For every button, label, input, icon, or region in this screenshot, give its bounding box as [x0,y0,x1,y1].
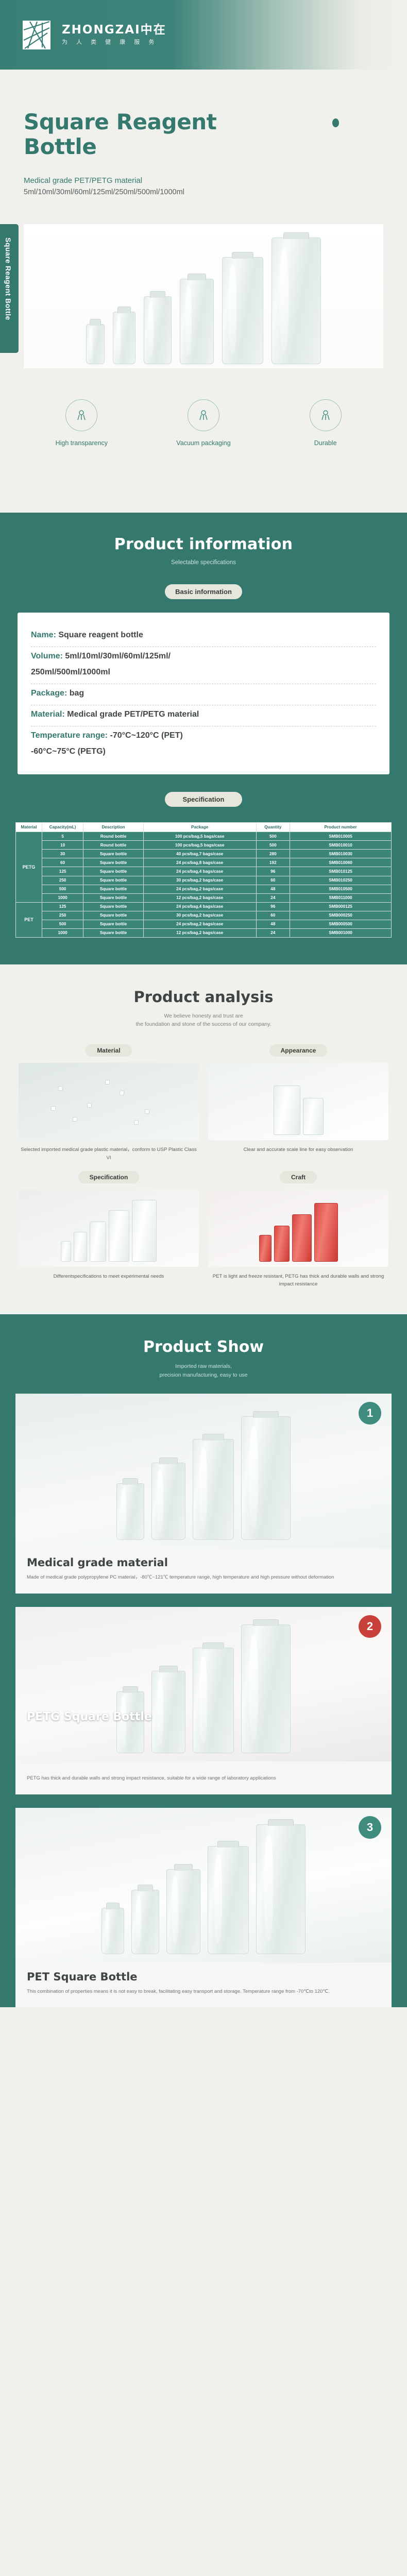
bottle-125ml [180,279,214,364]
cell-package: 40 pcs/bag,7 bags/case [143,850,256,858]
cell-capacity: 250 [42,911,83,920]
table-header-row: Material Capacity(mL) Description Packag… [16,823,392,832]
analysis-card-craft: Craft PET is light and freeze resistant,… [208,1171,388,1289]
feature-vacuum-packaging: Vacuum packaging [165,399,242,448]
table-row: 10Round bottle100 pcs/bag,5 bags/case500… [16,841,392,850]
product-detail-page: ZHONGZAI中在 为 人 类 健 康 服 务 Square Reagent … [0,0,407,2007]
cell-product-number: SMB000250 [290,911,392,920]
table-row: 1000Square bottle12 pcs/bag,2 bags/case2… [16,928,392,937]
cell-package: 12 pcs/bag,2 bags/case [143,928,256,937]
table-row: 500Square bottle24 pcs/bag,2 bags/case48… [16,920,392,928]
cell-quantity: 280 [256,850,290,858]
section-title: Product information [0,535,407,553]
cell-capacity: 30 [42,850,83,858]
specification-table: Material Capacity(mL) Description Packag… [15,822,392,938]
bottle-30ml [144,296,172,364]
product-show-section: Product Show Imported raw materials, pre… [0,1314,407,2008]
info-row-name: Name: Square reagent bottle [31,626,376,647]
cell-package: 24 pcs/bag,2 bags/case [143,920,256,928]
cell-product-number: SMB000125 [290,902,392,911]
cell-package: 100 pcs/bag,5 bags/case [143,841,256,850]
cell-quantity: 48 [256,885,290,893]
analysis-caption: Differentspecifications to meet experime… [19,1273,199,1280]
cell-capacity: 5 [42,832,83,841]
show-heading: PET Square Bottle [27,1971,380,1983]
info-row-package: Package: bag [31,684,376,705]
cell-product-number: SMB011000 [290,893,392,902]
table-row: 60Square bottle24 pcs/bag,8 bags/case192… [16,858,392,867]
cell-description: Square bottle [83,850,144,858]
cell-quantity: 48 [256,920,290,928]
hero-subtitle: Medical grade PET/PETG material 5ml/10ml… [0,159,407,198]
cell-capacity: 125 [42,867,83,876]
cell-product-number: SMB010060 [290,858,392,867]
table-row: 1000Square bottle12 pcs/bag,2 bags/case2… [16,893,392,902]
zhongzai-logo-mark-icon [22,20,52,50]
show-item-1: 1 Medical grade material Made of medical… [15,1394,392,1594]
th-description: Description [83,823,144,832]
specification-table-body: PETG5Round bottle100 pcs/bag,5 bags/case… [16,832,392,937]
cell-quantity: 500 [256,832,290,841]
cell-package: 30 pcs/bag,2 bags/case [143,911,256,920]
analysis-image-appearance [208,1063,388,1140]
analysis-card-specification: Specification Differentspecifications to… [19,1171,199,1289]
vacuum-icon [188,399,219,431]
cell-capacity: 500 [42,920,83,928]
cell-product-number: SMB010010 [290,841,392,850]
decorative-dot [332,118,339,127]
hero-material-text: Medical grade PET/PETG material [24,175,407,187]
info-row-temperature: Temperature range: -70°C~120°C (PET) [31,726,376,747]
bottle-5ml [86,324,105,364]
cell-capacity: 1000 [42,893,83,902]
analysis-image-material [19,1063,199,1140]
info-row-volume: Volume: 5ml/10ml/30ml/60ml/125ml/ [31,647,376,668]
durable-icon [310,399,342,431]
show-image-2: 2 PETG Square Bottle [15,1607,392,1761]
show-image-1: 1 [15,1394,392,1548]
info-row-material: Material: Medical grade PET/PETG materia… [31,705,376,726]
analysis-title: Product analysis [0,988,407,1006]
table-row: 250Square bottle30 pcs/bag,2 bags/case60… [16,876,392,885]
table-row: PETG5Round bottle100 pcs/bag,5 bags/case… [16,832,392,841]
analysis-tag: Material [86,1044,131,1057]
analysis-card-appearance: Appearance Clear and accurate scale line… [208,1044,388,1162]
analysis-tag: Appearance [269,1044,328,1057]
show-title: Product Show [0,1338,407,1356]
analysis-subtitle: We believe honesty and trust are the fou… [0,1012,407,1029]
specification-table-wrapper: Material Capacity(mL) Description Packag… [15,822,392,938]
info-row-volume-cont: 250ml/500ml/1000ml [31,668,376,684]
hero-section: Square Reagent Bottle Medical grade PET/… [0,70,407,513]
cell-package: 24 pcs/bag,4 bags/case [143,867,256,876]
page-title: Square Reagent Bottle [0,110,247,159]
cell-material: PETG [16,832,42,902]
cell-description: Square bottle [83,911,144,920]
analysis-image-craft [208,1190,388,1267]
show-caption-1: Medical grade material Made of medical g… [15,1548,392,1594]
hero-title-line-1: Square Reagent [24,110,247,134]
cell-capacity: 60 [42,858,83,867]
feature-high-transparency: High transparency [43,399,120,448]
cell-package: 24 pcs/bag,4 bags/case [143,902,256,911]
transparency-icon [65,399,97,431]
cell-quantity: 60 [256,876,290,885]
show-heading: Medical grade material [27,1556,380,1569]
cell-package: 30 pcs/bag,2 bags/case [143,876,256,885]
show-number-badge: 2 [359,1615,381,1638]
table-row: 30Square bottle40 pcs/bag,7 bags/case280… [16,850,392,858]
th-material: Material [16,823,42,832]
hero-title-line-2: Bottle [24,134,247,159]
analysis-caption: PET is light and freeze resistant, PETG … [208,1273,388,1289]
analysis-card-material: Material Selected imported medical grade… [19,1044,199,1162]
cell-quantity: 24 [256,928,290,937]
cell-product-number: SMB010005 [290,832,392,841]
show-caption-2: PETG has thick and durable walls and str… [15,1761,392,1794]
th-quantity: Quantity [256,823,290,832]
info-row-temperature-cont: -60°C~75°C (PETG) [31,747,376,763]
cell-package: 24 pcs/bag,2 bags/case [143,885,256,893]
cell-description: Square bottle [83,893,144,902]
cell-quantity: 60 [256,911,290,920]
cell-description: Round bottle [83,841,144,850]
show-number-badge: 3 [359,1816,381,1839]
th-package: Package [143,823,256,832]
cell-description: Square bottle [83,920,144,928]
product-analysis-section: Product analysis We believe honesty and … [0,964,407,1314]
bottle-10ml [113,312,135,364]
analysis-image-specification [19,1190,199,1267]
analysis-caption: Selected imported medical grade plastic … [19,1146,199,1162]
hero-feature-list: High transparency Vacuum packaging Durab… [0,399,407,448]
cell-description: Square bottle [83,867,144,876]
cell-capacity: 1000 [42,928,83,937]
th-capacity: Capacity(mL) [42,823,83,832]
hero-volumes-text: 5ml/10ml/30ml/60ml/125ml/250ml/500ml/100… [24,187,407,198]
site-header: ZHONGZAI中在 为 人 类 健 康 服 务 [0,0,407,70]
cell-quantity: 24 [256,893,290,902]
show-number-badge: 1 [359,1402,381,1425]
cell-description: Square bottle [83,902,144,911]
analysis-tag: Specification [78,1171,140,1183]
bottle-500ml [222,257,263,364]
analysis-caption: Clear and accurate scale line for easy o… [208,1146,388,1154]
show-item-3: 3 PET Square Bottle This combination of … [15,1808,392,2008]
cell-package: 24 pcs/bag,8 bags/case [143,858,256,867]
cell-quantity: 96 [256,867,290,876]
basic-information-pill: Basic information [165,584,242,599]
cell-material: PET [16,902,42,937]
cell-description: Square bottle [83,928,144,937]
cell-description: Square bottle [83,885,144,893]
cell-description: Round bottle [83,832,144,841]
cell-package: 12 pcs/bag,2 bags/case [143,893,256,902]
show-body: PETG has thick and durable walls and str… [27,1774,380,1783]
show-item-2: 2 PETG Square Bottle PETG has thick and … [15,1607,392,1794]
feature-label: Vacuum packaging [165,438,242,448]
show-image-3: 3 [15,1808,392,1962]
specification-pill: Specification [165,792,242,807]
show-subtitle: Imported raw materials, precision manufa… [0,1362,407,1381]
cell-product-number: SMB001000 [290,928,392,937]
cell-quantity: 500 [256,841,290,850]
cell-description: Square bottle [83,876,144,885]
cell-capacity: 10 [42,841,83,850]
feature-label: Durable [287,438,364,448]
feature-label: High transparency [43,438,120,448]
brand-name: ZHONGZAI中在 [62,24,166,36]
bottle-1000ml [272,238,321,364]
cell-capacity: 250 [42,876,83,885]
cell-capacity: 125 [42,902,83,911]
cell-package: 100 pcs/bag,5 bags/case [143,832,256,841]
analysis-card-grid: Material Selected imported medical grade… [0,1029,407,1288]
cell-product-number: SMB000500 [290,920,392,928]
vertical-tab-label: Square Reagent Bottle [0,224,19,353]
cell-quantity: 192 [256,858,290,867]
cell-product-number: SMB010030 [290,850,392,858]
table-row: 125Square bottle24 pcs/bag,4 bags/case96… [16,867,392,876]
brand-slogan: 为 人 类 健 康 服 务 [62,40,166,45]
show-overlay-heading: PETG Square Bottle [27,1710,152,1723]
table-row: 250Square bottle30 pcs/bag,2 bags/case60… [16,911,392,920]
brand-logo[interactable]: ZHONGZAI中在 为 人 类 健 康 服 务 [22,20,166,50]
show-body: Made of medical grade polypropylene PC m… [27,1573,380,1582]
show-caption-3: PET Square Bottle This combination of pr… [15,1962,392,2008]
table-row: 500Square bottle24 pcs/bag,2 bags/case48… [16,885,392,893]
th-product-number: Product number [290,823,392,832]
cell-product-number: SMB010125 [290,867,392,876]
cell-product-number: SMB010500 [290,885,392,893]
analysis-tag: Craft [280,1171,317,1183]
table-row: PET125Square bottle24 pcs/bag,4 bags/cas… [16,902,392,911]
feature-durable: Durable [287,399,364,448]
basic-information-card: Name: Square reagent bottle Volume: 5ml/… [18,613,389,774]
section-subtitle: Selectable specifications [0,560,407,566]
product-information-section: Product information Selectable specifica… [0,513,407,964]
cell-product-number: SMB010250 [290,876,392,885]
show-body: This combination of properties means it … [27,1988,380,1996]
cell-quantity: 96 [256,902,290,911]
hero-bottle-lineup-image [24,224,383,368]
cell-description: Square bottle [83,858,144,867]
cell-capacity: 500 [42,885,83,893]
